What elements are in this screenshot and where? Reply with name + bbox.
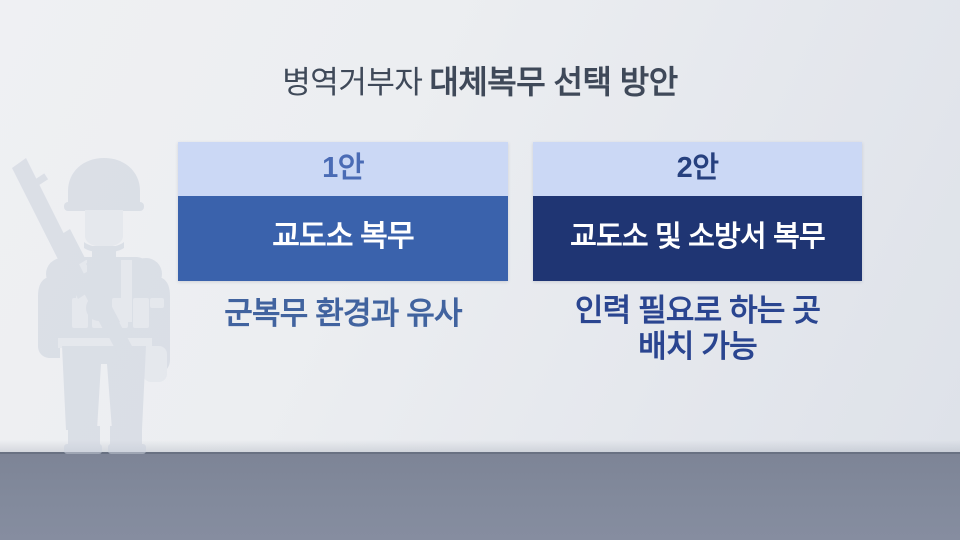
option-1-body-label: 교도소 복무 <box>272 222 414 255</box>
news-graphic-panel: 병역거부자대체복무 선택 방안 1안 교도소 복무 2안 교도소 및 소방서 복… <box>0 0 960 540</box>
option-2-caption: 인력 필요로 하는 곳 배치 가능 <box>533 293 862 365</box>
option-card-2: 2안 교도소 및 소방서 복무 <box>533 142 862 281</box>
option-2-body-label: 교도소 및 소방서 복무 <box>570 223 825 255</box>
option-2-header: 2안 <box>533 142 862 196</box>
option-2-body: 교도소 및 소방서 복무 <box>533 196 862 281</box>
option-2-header-label: 2안 <box>677 154 719 185</box>
background-lower-band <box>0 452 960 540</box>
title-lead: 병역거부자 <box>282 65 422 100</box>
title-emphasis: 대체복무 선택 방안 <box>429 64 677 100</box>
option-1-header-label: 1안 <box>322 154 364 185</box>
option-1-body: 교도소 복무 <box>178 196 508 281</box>
option-card-1: 1안 교도소 복무 <box>178 142 508 281</box>
option-1-header: 1안 <box>178 142 508 196</box>
background-band-edge <box>0 452 960 454</box>
page-title: 병역거부자대체복무 선택 방안 <box>0 66 960 98</box>
option-1-caption: 군복무 환경과 유사 <box>178 296 508 332</box>
